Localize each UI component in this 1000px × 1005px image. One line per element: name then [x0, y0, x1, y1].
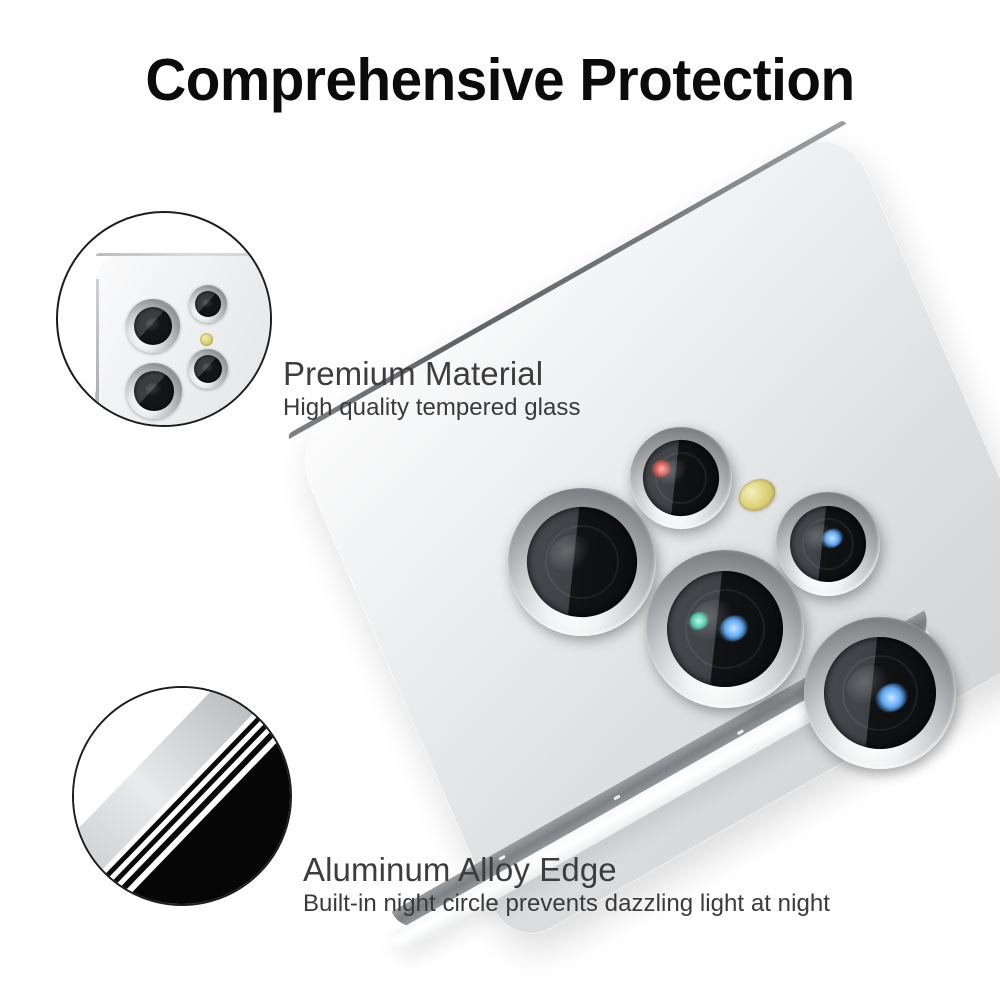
callout-aluminum-alloy-edge: Aluminum Alloy Edge Built-in night circl… [303, 853, 830, 918]
callout-heading: Premium Material [283, 357, 581, 391]
lens-glass [804, 617, 956, 769]
side-button [95, 391, 99, 427]
callout-subtext: Built-in night circle prevents dazzling … [303, 890, 830, 918]
product-feature-graphic: Comprehensive Protection [0, 0, 1000, 1000]
mini-camera-lens-2 [189, 285, 227, 323]
callout-heading: Aluminum Alloy Edge [303, 853, 830, 887]
mini-camera-lens-4 [188, 349, 228, 389]
lens-glass [630, 427, 732, 529]
lens-glass [776, 492, 880, 596]
mini-phone-back [96, 253, 272, 427]
alloy-edge-bands [72, 686, 292, 906]
callout-premium-material: Premium Material High quality tempered g… [283, 357, 581, 422]
callout-subtext: High quality tempered glass [283, 394, 581, 422]
camera-array-closeup-circle [56, 211, 272, 427]
mini-camera-lens-5 [124, 425, 178, 427]
lens-glass [646, 550, 804, 708]
mini-flash-led [200, 333, 213, 346]
page-title: Comprehensive Protection [20, 46, 980, 114]
mini-camera-lens-1 [126, 299, 180, 353]
mini-camera-lens-3 [126, 363, 182, 419]
lens-glass [508, 488, 656, 636]
alloy-edge-closeup-circle [72, 686, 292, 906]
